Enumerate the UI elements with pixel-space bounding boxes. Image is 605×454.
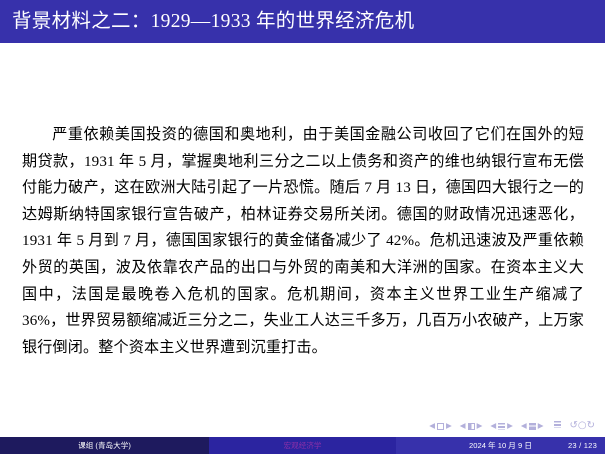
footer-subject-label: 宏观经济学 xyxy=(284,440,322,451)
slide-prev-icon[interactable]: ◀ xyxy=(428,422,436,430)
slide-navigation-group[interactable]: ◀ ▶ xyxy=(428,422,453,430)
footer-page-number: 23 / 123 xyxy=(568,441,597,450)
body-paragraph: 严重依赖美国投资的德国和奥地利，由于美国金融公司收回了它们在国外的短期贷款，19… xyxy=(22,122,584,361)
beamer-navigation-symbols[interactable]: ◀ ▶ ◀ ▶ ◀ ▶ ◀ ▶ ↺ ○ ↻ xyxy=(0,415,605,437)
section-marker-icon[interactable] xyxy=(529,423,536,430)
slide-content-area: 严重依赖美国投资的德国和奥地利，由于美国金融公司收回了它们在国外的短期贷款，19… xyxy=(0,43,605,415)
subsection-navigation-group[interactable]: ◀ ▶ xyxy=(489,422,514,430)
presentation-marker-icon[interactable] xyxy=(553,421,562,431)
frame-navigation-group[interactable]: ◀ ▶ xyxy=(459,422,484,430)
section-next-icon[interactable]: ▶ xyxy=(537,422,545,430)
back-icon[interactable]: ↺ xyxy=(569,421,577,431)
search-icon[interactable]: ○ xyxy=(578,421,587,431)
footer-author-cell: 课组 (青岛大学) xyxy=(0,437,209,454)
footer-date-page-cell: 2024 年 10 月 9 日 23 / 123 xyxy=(396,437,605,454)
slide-next-icon[interactable]: ▶ xyxy=(445,422,453,430)
page-title: 背景材料之二：1929—1933 年的世界经济危机 xyxy=(12,11,414,32)
presentation-bar-icon[interactable] xyxy=(554,421,561,428)
section-prev-icon[interactable]: ◀ xyxy=(520,422,528,430)
subsection-prev-icon[interactable]: ◀ xyxy=(489,422,497,430)
slide-title-bar: 背景材料之二：1929—1933 年的世界经济危机 xyxy=(0,0,605,43)
footer-subject-cell: 宏观经济学 xyxy=(209,437,396,454)
subsection-marker-icon[interactable] xyxy=(498,423,505,430)
section-navigation-group[interactable]: ◀ ▶ xyxy=(520,422,545,430)
footer-author-label: 课组 (青岛大学) xyxy=(78,440,131,451)
forward-icon[interactable]: ↻ xyxy=(587,421,595,431)
subsection-next-icon[interactable]: ▶ xyxy=(506,422,514,430)
frame-next-icon[interactable]: ▶ xyxy=(476,422,484,430)
history-navigation-group[interactable]: ↺ ○ ↻ xyxy=(569,421,595,431)
frame-prev-icon[interactable]: ◀ xyxy=(459,422,467,430)
frame-marker-icon[interactable] xyxy=(468,423,475,430)
footer-date-label: 2024 年 10 月 9 日 xyxy=(469,440,532,451)
slide-marker-icon[interactable] xyxy=(437,423,444,430)
slide-footer: 课组 (青岛大学) 宏观经济学 2024 年 10 月 9 日 23 / 123 xyxy=(0,437,605,454)
